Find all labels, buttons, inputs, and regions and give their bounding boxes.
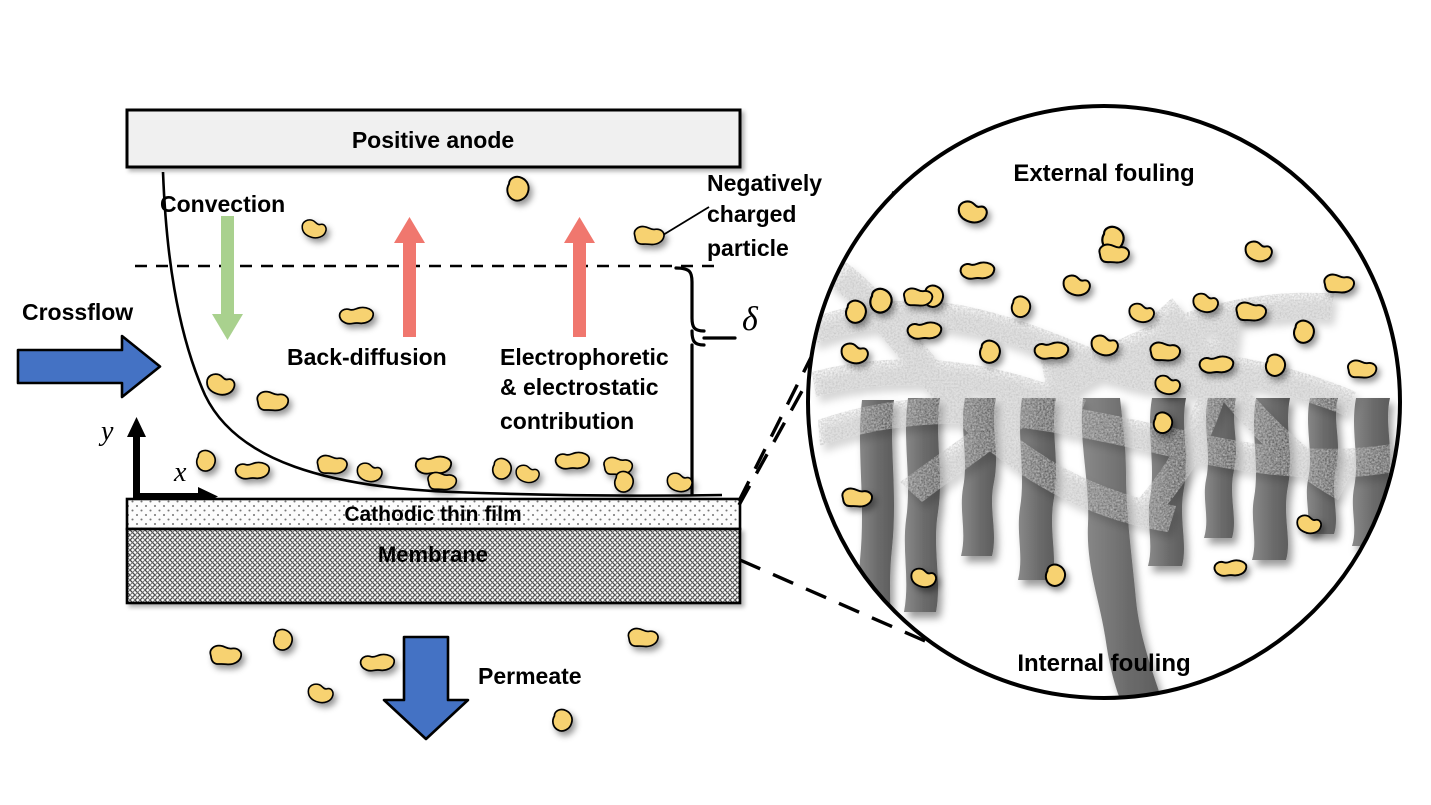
particle-callout-leader <box>663 207 709 235</box>
particle-callout: Negatively charged particle <box>663 170 822 261</box>
convection-arrow <box>212 216 243 340</box>
axis-label-x: x <box>173 457 187 488</box>
crossflow-label: Crossflow <box>22 299 133 325</box>
electrophoretic-label-line3: contribution <box>500 408 634 434</box>
internal-fouling-label: Internal fouling <box>1017 650 1190 677</box>
axis-label-y: y <box>98 416 114 447</box>
cathodic-thin-film-layer: Cathodic thin film <box>127 499 740 529</box>
electrophoretic-arrow <box>564 217 595 337</box>
electrophoretic-label-line2: & electrostatic <box>500 374 659 400</box>
permeate-label: Permeate <box>478 663 582 689</box>
membrane-layer: Membrane <box>127 529 740 603</box>
back-diffusion-label: Back-diffusion <box>287 344 447 370</box>
convection-label: Convection <box>160 191 285 217</box>
delta-symbol: δ <box>742 301 759 338</box>
particle-callout-line2: charged <box>707 201 796 227</box>
external-fouling-label: External fouling <box>1013 160 1194 187</box>
boundary-layer-curve <box>163 172 722 496</box>
cathodic-thin-film-label: Cathodic thin film <box>344 503 521 526</box>
membrane-label: Membrane <box>378 542 488 567</box>
delta-bracket <box>676 268 735 494</box>
permeate-arrow <box>384 637 468 739</box>
particle-callout-line3: particle <box>707 235 789 261</box>
electrophoretic-label: Electrophoretic & electrostatic contribu… <box>500 344 669 434</box>
electrophoretic-label-line1: Electrophoretic <box>500 344 669 370</box>
crossflow-arrow <box>18 336 160 397</box>
fouling-inset: External fouling Internal fouling <box>808 106 1400 718</box>
positive-anode: Positive anode <box>127 110 740 167</box>
back-diffusion-arrow <box>394 217 425 337</box>
diagram-canvas: Positive anode δ Convection Back-diffusi… <box>0 0 1431 805</box>
particle-callout-line1: Negatively <box>707 170 822 196</box>
positive-anode-label: Positive anode <box>352 127 514 153</box>
